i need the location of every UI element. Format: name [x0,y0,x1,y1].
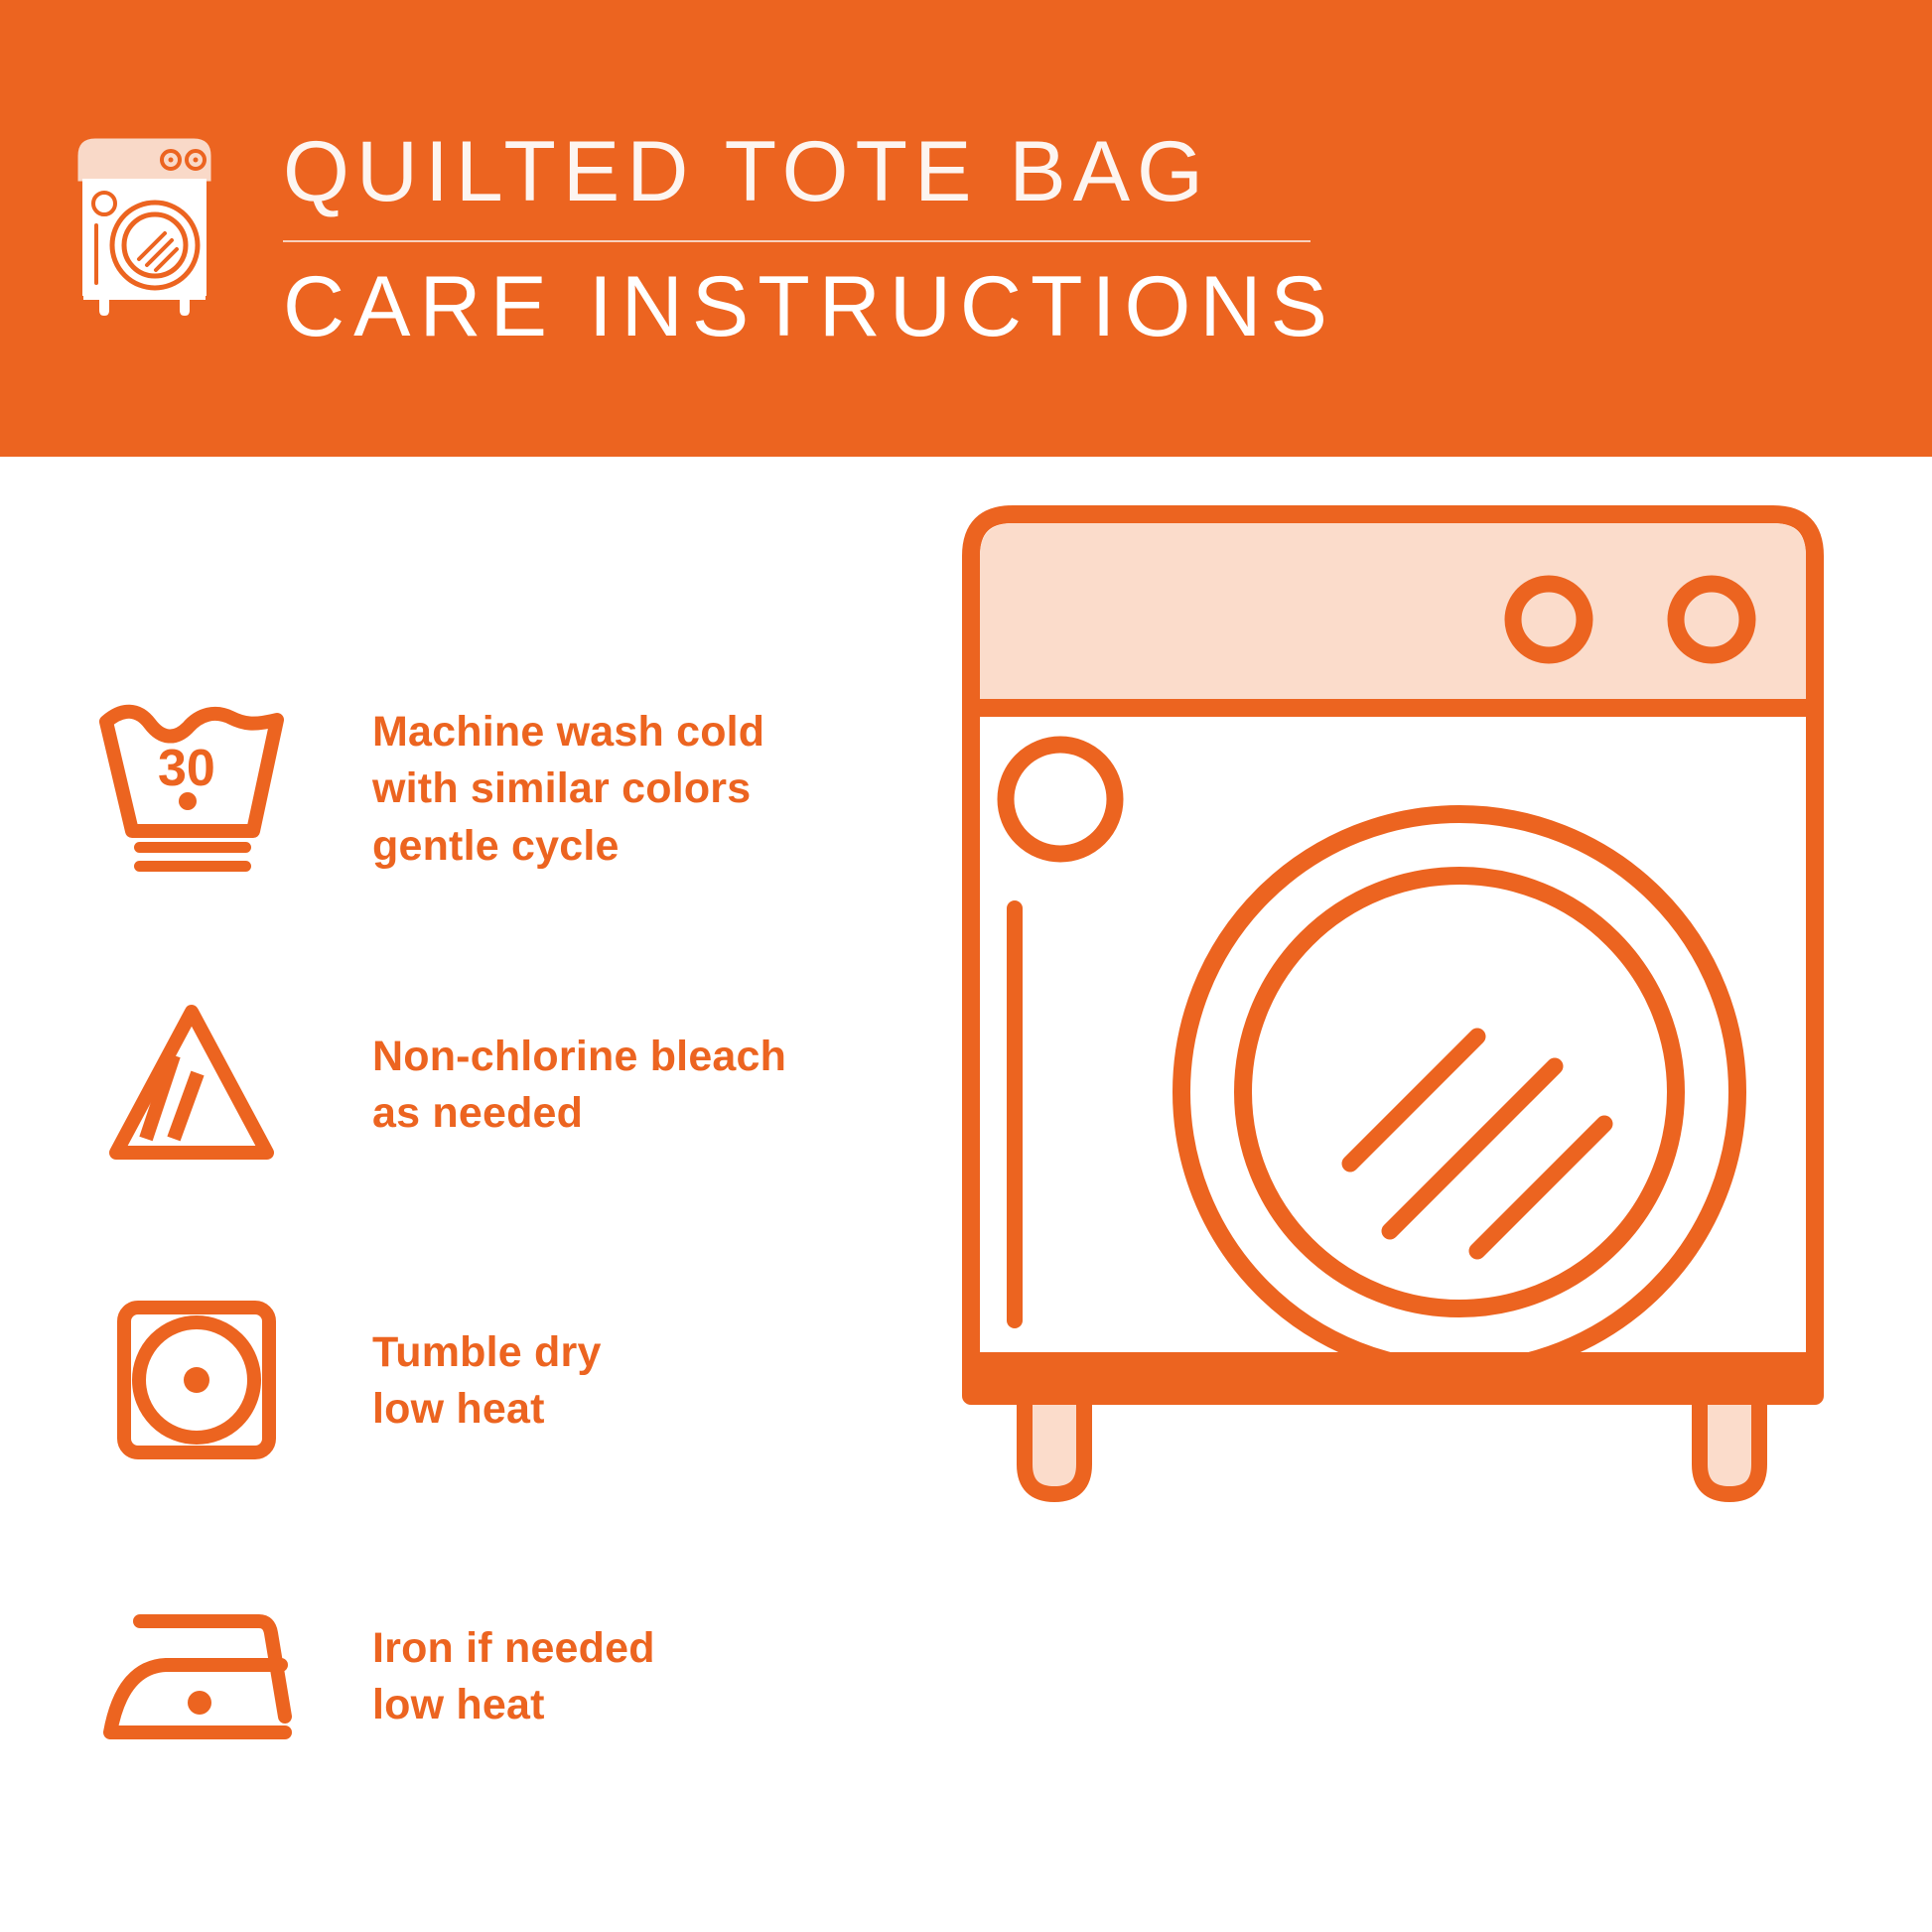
iron-low-heat-icon [84,1578,298,1776]
care-line: Non-chlorine bleach [372,1029,786,1085]
care-line: Tumble dry [372,1324,602,1381]
care-line: gentle cycle [372,818,764,875]
care-line: low heat [372,1677,655,1733]
foot-right [1700,1390,1759,1494]
care-instruction-list: 30 Machine wash cold with similar colors… [84,670,908,1854]
care-row-iron: Iron if needed low heat [84,1558,908,1796]
content-area: 30 Machine wash cold with similar colors… [0,457,1932,1932]
care-text-machine-wash: Machine wash cold with similar colors ge… [298,704,764,875]
header-banner: QUILTED TOTE BAG CARE INSTRUCTIONS [0,0,1932,457]
care-line: Machine wash cold [372,704,764,760]
care-text-iron: Iron if needed low heat [298,1620,655,1733]
header-title-block: QUILTED TOTE BAG CARE INSTRUCTIONS [283,129,1315,349]
care-text-bleach: Non-chlorine bleach as needed [298,1029,786,1142]
washing-machine-icon [77,134,211,318]
care-line: with similar colors [372,760,764,817]
non-chlorine-bleach-triangle-icon [84,986,298,1184]
front-load-washing-machine-illustration [953,496,1886,1916]
care-text-tumble-dry: Tumble dry low heat [298,1324,602,1438]
wash-temperature-value: 30 [158,740,215,797]
tumble-dry-low-icon [84,1282,298,1480]
care-line: low heat [372,1381,602,1438]
foot-left [1025,1390,1084,1494]
care-line: as needed [372,1085,786,1142]
care-line: Iron if needed [372,1620,655,1677]
care-instructions-poster: QUILTED TOTE BAG CARE INSTRUCTIONS 30 [0,0,1932,1932]
care-row-tumble-dry: Tumble dry low heat [84,1262,908,1500]
care-row-machine-wash: 30 Machine wash cold with similar colors… [84,670,908,908]
wash-tub-30-icon: 30 [84,690,298,889]
care-row-bleach: Non-chlorine bleach as needed [84,966,908,1204]
title-divider [283,240,1311,242]
page-subtitle: CARE INSTRUCTIONS [283,264,1315,349]
page-title: QUILTED TOTE BAG [283,129,1315,214]
